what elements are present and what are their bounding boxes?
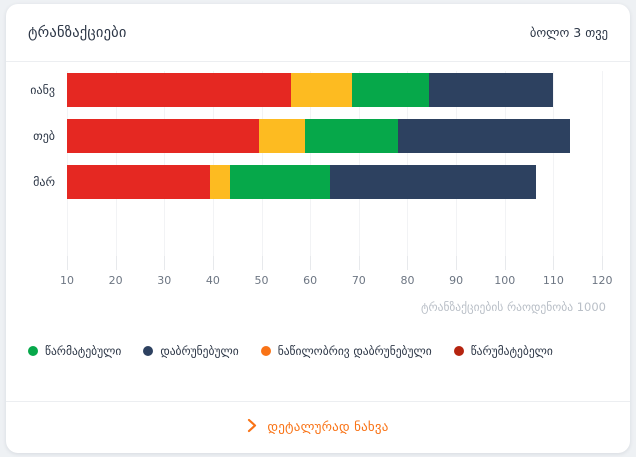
x-tick-label: 70 — [352, 274, 366, 287]
x-tick-label: 20 — [109, 274, 123, 287]
tick-mark — [116, 256, 117, 270]
bar-segment[interactable] — [230, 165, 330, 199]
legend-label: წარმატებული — [45, 344, 121, 358]
bar-rows: იანვთებმარ — [67, 71, 602, 256]
y-axis-label: მარ — [33, 175, 55, 189]
x-tick-label: 80 — [400, 274, 414, 287]
legend-item-successful[interactable]: წარმატებული — [28, 344, 121, 358]
tick-mark — [67, 256, 68, 270]
chevron-right-icon — [247, 418, 258, 437]
legend-dot-icon — [143, 346, 153, 356]
card-header: ტრანზაქციები ბოლო 3 თვე — [6, 4, 630, 62]
legend-item-partially-returned[interactable]: ნაწილობრივ დაბრუნებული — [261, 344, 432, 358]
legend-dot-icon — [28, 346, 38, 356]
bar-segment[interactable] — [210, 165, 229, 199]
x-tick-label: 10 — [60, 274, 74, 287]
period-label[interactable]: ბოლო 3 თვე — [530, 25, 608, 40]
bar-segment[interactable] — [352, 73, 430, 107]
tick-mark — [505, 256, 506, 270]
view-details-button[interactable]: დეტალურად ნახვა — [247, 418, 388, 437]
bar-segment[interactable] — [330, 165, 537, 199]
tick-mark — [602, 256, 603, 270]
x-tick-label: 40 — [206, 274, 220, 287]
chart-caption: ტრანზაქციების რაოდენობა 1000 — [421, 300, 606, 314]
gridline — [602, 71, 603, 256]
x-tick-label: 90 — [449, 274, 463, 287]
card-footer: დეტალურად ნახვა — [6, 401, 630, 453]
bar-segment[interactable] — [259, 119, 305, 153]
bar-segment[interactable] — [291, 73, 352, 107]
tick-mark — [359, 256, 360, 270]
x-tick-label: 60 — [303, 274, 317, 287]
bar-segment[interactable] — [429, 73, 553, 107]
tick-mark — [262, 256, 263, 270]
bar-segment[interactable] — [67, 119, 259, 153]
page-title: ტრანზაქციები — [28, 25, 127, 41]
legend-label: წარუმატებელი — [471, 344, 553, 358]
x-tick-label: 110 — [543, 274, 564, 287]
bar-segment[interactable] — [305, 119, 397, 153]
legend-item-failed[interactable]: წარუმატებელი — [454, 344, 553, 358]
bar-row[interactable]: თებ — [67, 119, 602, 153]
bar-row[interactable]: მარ — [67, 165, 602, 199]
legend-dot-icon — [454, 346, 464, 356]
legend-item-returned[interactable]: დაბრუნებული — [143, 344, 238, 358]
plot-region: იანვთებმარ — [67, 71, 602, 256]
legend-dot-icon — [261, 346, 271, 356]
x-tick-label: 100 — [494, 274, 515, 287]
view-details-label: დეტალურად ნახვა — [267, 420, 388, 435]
tick-mark — [310, 256, 311, 270]
bar-segment[interactable] — [67, 165, 210, 199]
x-tick-label: 30 — [157, 274, 171, 287]
tick-mark — [407, 256, 408, 270]
bar-segment[interactable] — [398, 119, 571, 153]
x-tick-label: 120 — [592, 274, 613, 287]
x-tick-label: 50 — [255, 274, 269, 287]
chart-legend: წარმატებულიდაბრუნებულინაწილობრივ დაბრუნე… — [6, 344, 630, 358]
chart-area: იანვთებმარ 102030405060708090100110120 — [6, 62, 630, 294]
tick-mark — [213, 256, 214, 270]
bar-row[interactable]: იანვ — [67, 73, 602, 107]
y-axis-label: იანვ — [30, 83, 55, 97]
bar-segment[interactable] — [67, 73, 291, 107]
tick-mark — [164, 256, 165, 270]
tick-mark — [553, 256, 554, 270]
x-axis-ticks: 102030405060708090100110120 — [67, 256, 602, 296]
y-axis-label: თებ — [33, 129, 55, 143]
legend-label: ნაწილობრივ დაბრუნებული — [278, 344, 432, 358]
tick-mark — [456, 256, 457, 270]
transactions-card: ტრანზაქციები ბოლო 3 თვე იანვთებმარ 10203… — [6, 4, 630, 453]
legend-label: დაბრუნებული — [160, 344, 238, 358]
